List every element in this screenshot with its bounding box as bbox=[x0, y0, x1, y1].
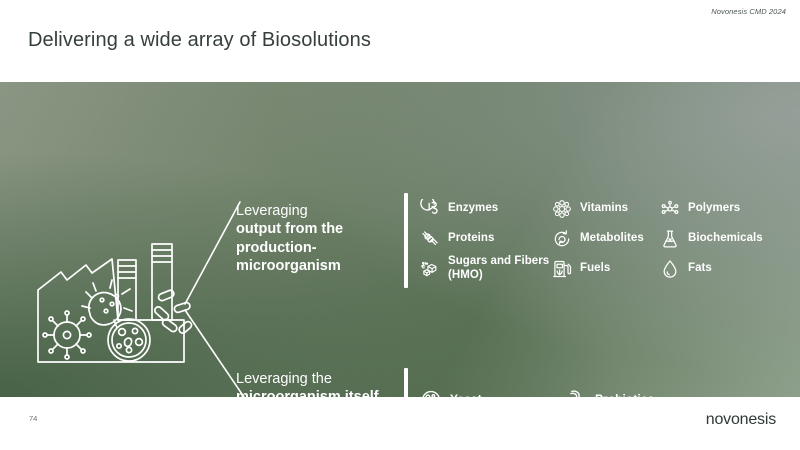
item-label: Proteins bbox=[448, 232, 494, 246]
flask-icon bbox=[660, 229, 680, 249]
leveraging-microorganism-emphasis: microorganism itself bbox=[236, 388, 411, 397]
item-vitamins[interactable]: Vitamins bbox=[552, 199, 660, 219]
item-label: Vitamins bbox=[580, 202, 628, 216]
microorganism-items-grid: Yeast Probiotics bbox=[420, 372, 720, 397]
item-biochemicals[interactable]: Biochemicals bbox=[660, 229, 790, 249]
item-polymers[interactable]: Polymers bbox=[660, 199, 790, 219]
slide-kicker: Novonesis CMD 2024 bbox=[711, 7, 786, 16]
page-number: 74 bbox=[29, 414, 37, 423]
slide: Novonesis CMD 2024 Delivering a wide arr… bbox=[0, 0, 800, 450]
enzyme-icon bbox=[420, 199, 440, 219]
protein-helix-icon bbox=[420, 229, 440, 249]
sugar-cubes-icon bbox=[420, 259, 440, 279]
vitamin-molecule-icon bbox=[552, 199, 572, 219]
leveraging-microorganism-lead: Leveraging the bbox=[236, 370, 411, 388]
item-label: Probiotics bbox=[595, 392, 654, 397]
leveraging-output-text: Leveraging output from the production-mi… bbox=[236, 202, 401, 275]
leveraging-output-emphasis: output from the production-microorganism bbox=[236, 220, 401, 275]
factory-with-microorganisms-icon bbox=[34, 232, 194, 372]
yeast-cell-icon bbox=[420, 389, 442, 398]
item-label: Enzymes bbox=[448, 202, 498, 216]
item-fats[interactable]: Fats bbox=[660, 259, 790, 279]
item-label: Fats bbox=[688, 262, 712, 276]
item-label: Biochemicals bbox=[688, 232, 763, 246]
droplet-icon bbox=[660, 259, 680, 279]
item-label: Fuels bbox=[580, 262, 610, 276]
item-enzymes[interactable]: Enzymes bbox=[420, 199, 552, 219]
item-label: Polymers bbox=[688, 202, 740, 216]
item-proteins[interactable]: Proteins bbox=[420, 229, 552, 249]
leveraging-output-lead: Leveraging bbox=[236, 202, 401, 220]
metabolite-cycle-icon bbox=[552, 229, 572, 249]
polymer-chain-icon bbox=[660, 199, 680, 219]
fuel-pump-icon bbox=[552, 259, 572, 279]
novonesis-logo: novonesis bbox=[706, 411, 776, 429]
item-probiotics[interactable]: Probiotics bbox=[565, 389, 720, 398]
content-band: Leveraging output from the production-mi… bbox=[0, 82, 800, 397]
page-title: Delivering a wide array of Biosolutions bbox=[28, 29, 371, 52]
divider-bar-microorganism bbox=[404, 368, 408, 397]
gut-icon bbox=[565, 389, 587, 398]
output-items-grid: Enzymes Vitamins bbox=[420, 194, 790, 284]
item-label: Sugars and Fibers (HMO) bbox=[448, 255, 552, 282]
divider-bar-output bbox=[404, 193, 408, 288]
item-sugars-and-fibers[interactable]: Sugars and Fibers (HMO) bbox=[420, 255, 552, 282]
item-label: Metabolites bbox=[580, 232, 644, 246]
item-yeast[interactable]: Yeast bbox=[420, 389, 565, 398]
item-label: Yeast bbox=[450, 392, 482, 397]
item-fuels[interactable]: Fuels bbox=[552, 259, 660, 279]
leveraging-microorganism-text: Leveraging the microorganism itself bbox=[236, 370, 411, 397]
item-metabolites[interactable]: Metabolites bbox=[552, 229, 660, 249]
